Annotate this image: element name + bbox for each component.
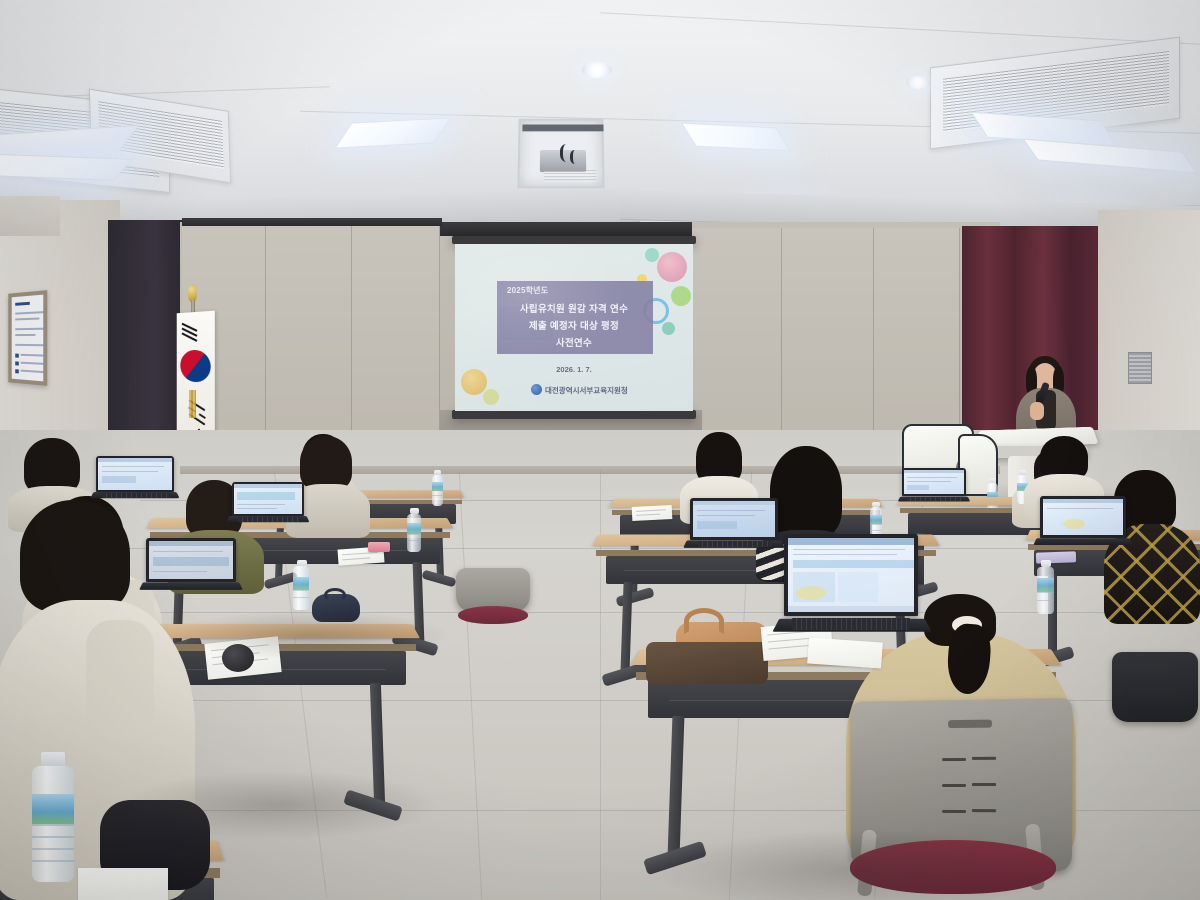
projection-screen: 2025학년도 사립유치원 원감 자격 연수 제출 예정자 대상 평정 사전연수…: [455, 244, 693, 411]
water-bottle: [30, 752, 76, 882]
slide-year-label: 2025학년도: [507, 285, 548, 296]
seminar-room-photo: 2025학년도 사립유치원 원감 자격 연수 제출 예정자 대상 평정 사전연수…: [0, 0, 1200, 900]
water-bottle: [431, 470, 444, 506]
wall-notice-board: [8, 290, 47, 386]
wall-left-upper: [0, 196, 60, 236]
taeguk-circle: [176, 345, 216, 386]
projection-screen-frame: [452, 410, 696, 419]
laptop: [690, 498, 780, 560]
wall-panel: [874, 228, 960, 454]
water-bottle: [986, 478, 999, 512]
presentation-slide: 2025학년도 사립유치원 원감 자격 연수 제출 예정자 대상 평정 사전연수…: [455, 244, 693, 411]
document-paper: [78, 868, 168, 900]
chair: [1112, 652, 1200, 772]
slide-title-line-2: 제출 예정자 대상 평정: [455, 318, 693, 332]
slide-title-line-3: 사전연수: [455, 335, 693, 349]
wall-vent: [1128, 352, 1152, 384]
laptop: [232, 482, 306, 534]
flag-cloth: [177, 311, 215, 449]
projection-screen-frame: [452, 236, 696, 244]
slide-organization: 대전광역시서부교육지원청: [545, 385, 628, 396]
chair-handle: [948, 720, 992, 729]
chair: [456, 568, 536, 638]
organization-logo-icon: [531, 384, 542, 395]
wall-panel: [266, 224, 352, 462]
laptop: [784, 534, 920, 646]
wall-panel: [690, 228, 782, 458]
wall-dark-band: [182, 218, 442, 226]
slide-title-line-1: 사립유치원 원감 자격 연수: [455, 301, 693, 315]
presenter-hand: [1030, 402, 1044, 420]
water-bottle: [406, 508, 422, 552]
water-bottle: [292, 560, 310, 610]
wall-dark-band: [440, 222, 692, 236]
slide-date: 2026. 1. 7.: [455, 365, 693, 374]
document-paper: [632, 505, 673, 521]
projector-housing: [517, 119, 604, 189]
wall-panel: [352, 226, 440, 462]
laptop: [1040, 496, 1128, 556]
ceiling-downlight: [906, 76, 930, 89]
folder: [368, 542, 390, 552]
projector-cable: [570, 150, 582, 164]
laptop: [902, 468, 968, 510]
ceiling-downlight: [582, 62, 612, 78]
ceiling-light-panel: [0, 153, 134, 181]
handbag-dark-brown: [646, 638, 768, 684]
flag-fringe: [189, 390, 196, 418]
wall-panel: [782, 228, 874, 456]
